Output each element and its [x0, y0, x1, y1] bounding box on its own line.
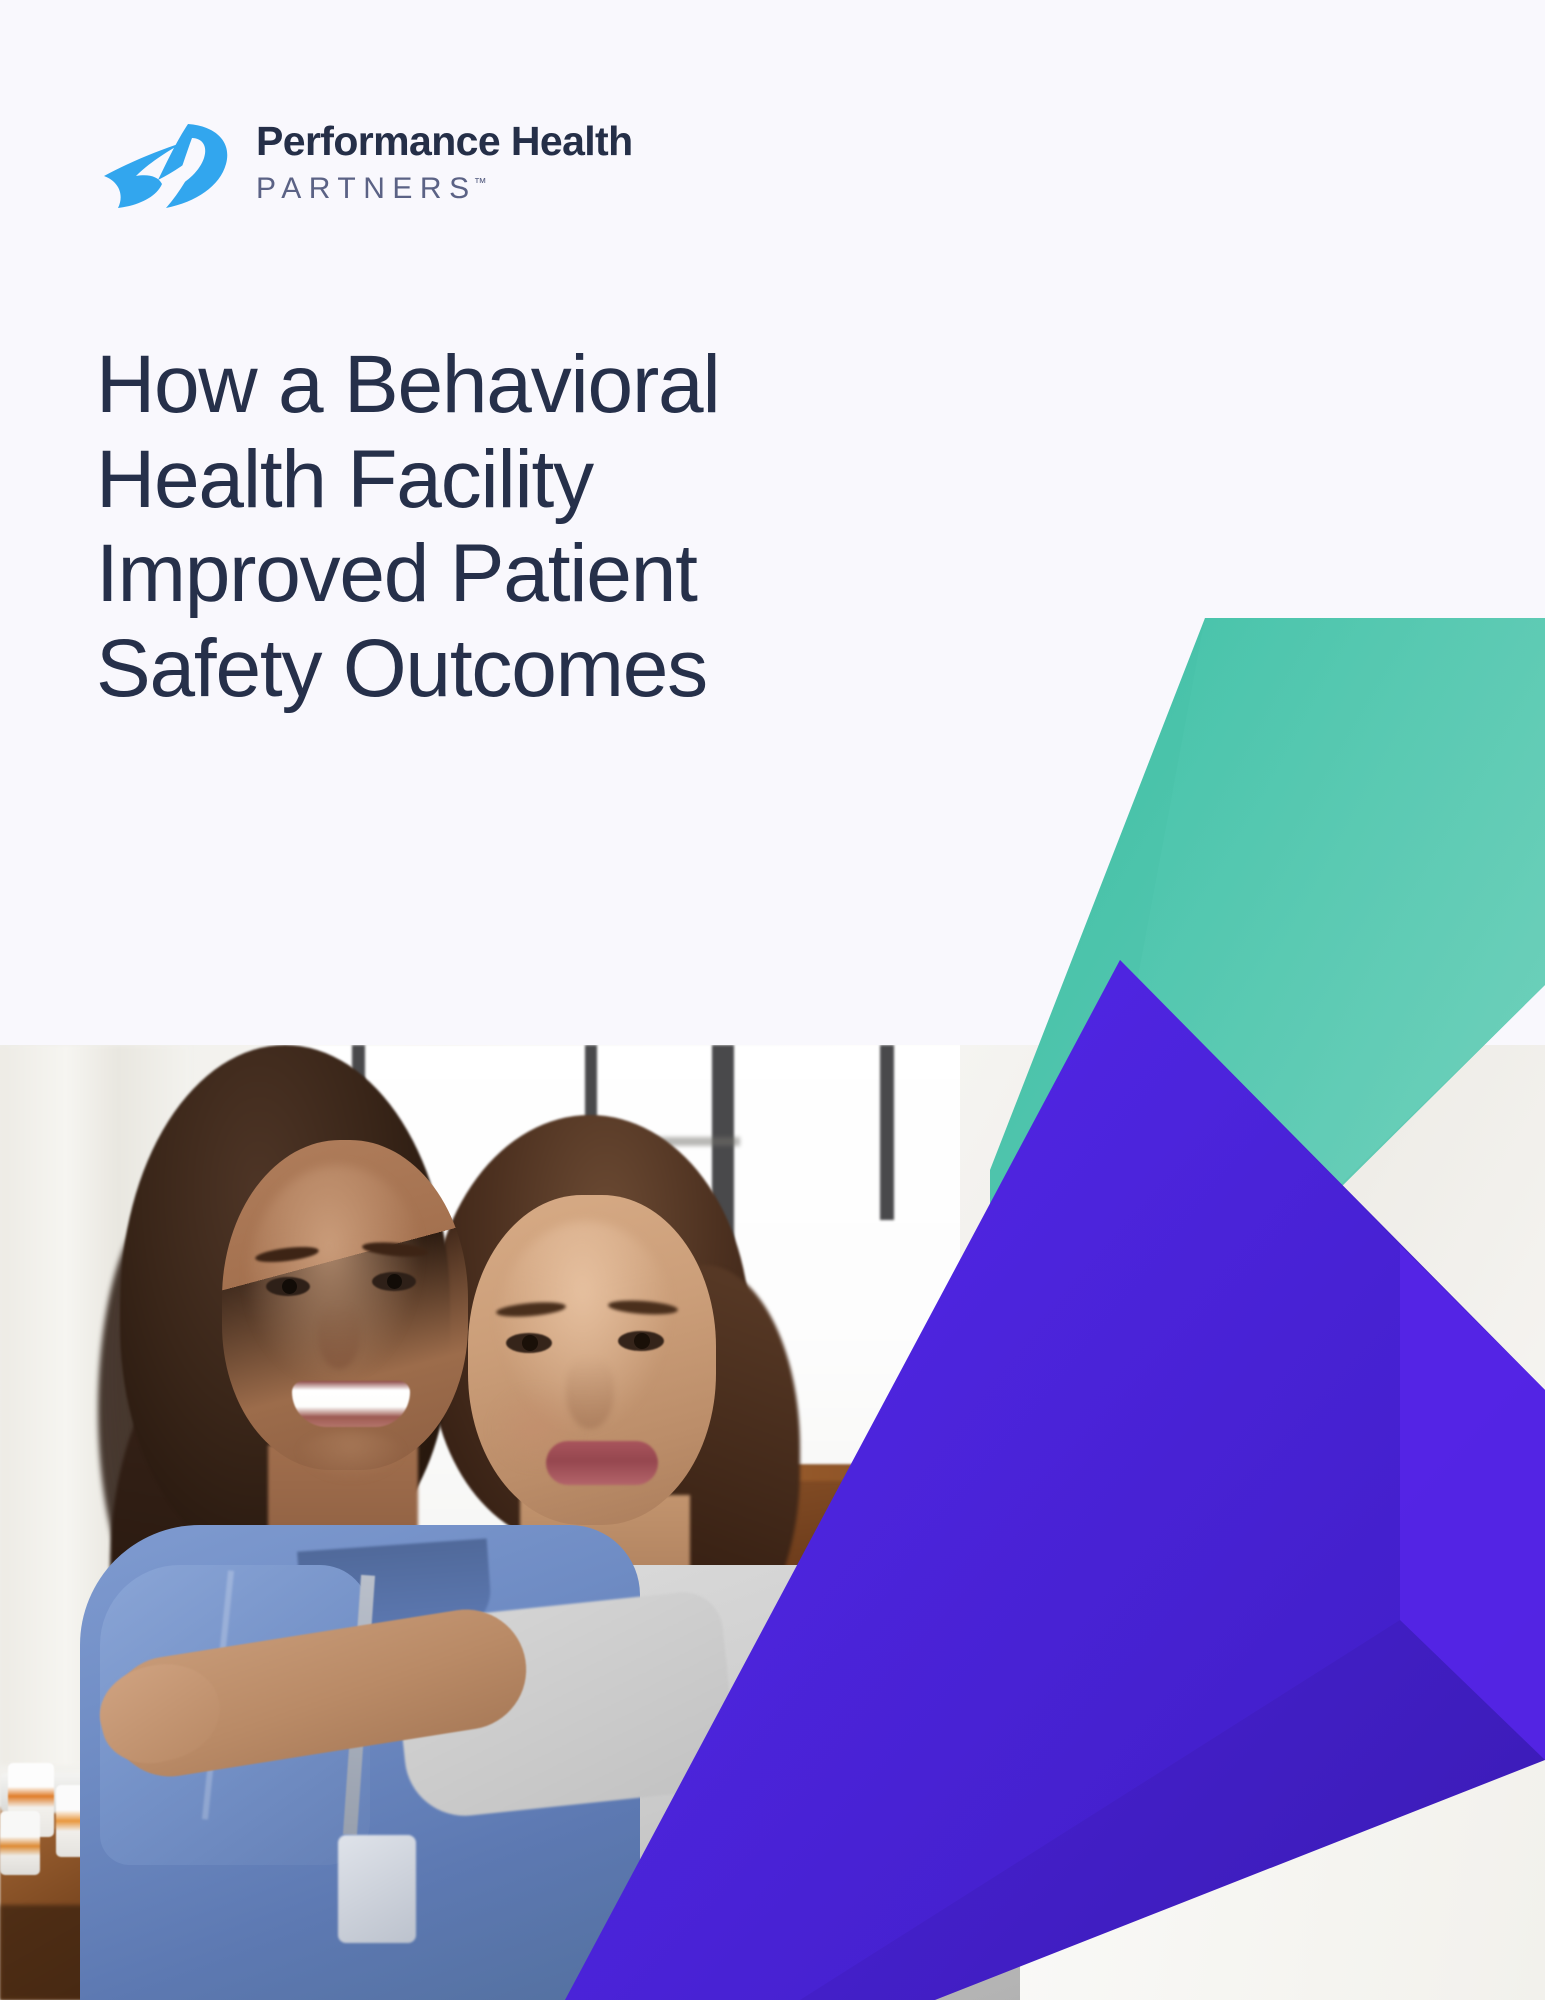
nurse-id-badge	[338, 1835, 416, 1943]
pill-bottle	[0, 1811, 40, 1875]
headline-line-3: Improved Patient	[96, 527, 996, 622]
headline-line-2: Health Facility	[96, 433, 996, 528]
nurse-smile	[292, 1381, 410, 1427]
brand-name-line1: Performance Health	[256, 121, 633, 162]
nurse-chin	[296, 1431, 406, 1481]
patient-pupil	[634, 1333, 650, 1349]
patient-lips	[546, 1441, 658, 1485]
performance-health-swoosh-icon	[96, 108, 236, 213]
brand-name-line2: PARTNERS™	[256, 174, 633, 204]
window-mullion	[880, 1045, 894, 1220]
headline-line-1: How a Behavioral	[96, 338, 996, 433]
patient-nose	[566, 1357, 614, 1429]
nurse-pupil	[387, 1274, 402, 1289]
cover-page: Performance Health PARTNERS™ How a Behav…	[0, 0, 1545, 2000]
page-title: How a Behavioral Health Facility Improve…	[96, 338, 996, 717]
nurse-pupil	[282, 1279, 297, 1294]
brand-logo: Performance Health PARTNERS™	[96, 108, 633, 213]
brand-wordmark: Performance Health PARTNERS™	[256, 117, 633, 204]
trademark-symbol: ™	[474, 175, 487, 190]
patient-pupil	[522, 1335, 538, 1351]
brand-partners-text: PARTNERS	[256, 172, 477, 205]
headline-line-4: Safety Outcomes	[96, 622, 996, 717]
cover-photo	[0, 1045, 1545, 2000]
nurse-nose	[318, 1303, 360, 1369]
